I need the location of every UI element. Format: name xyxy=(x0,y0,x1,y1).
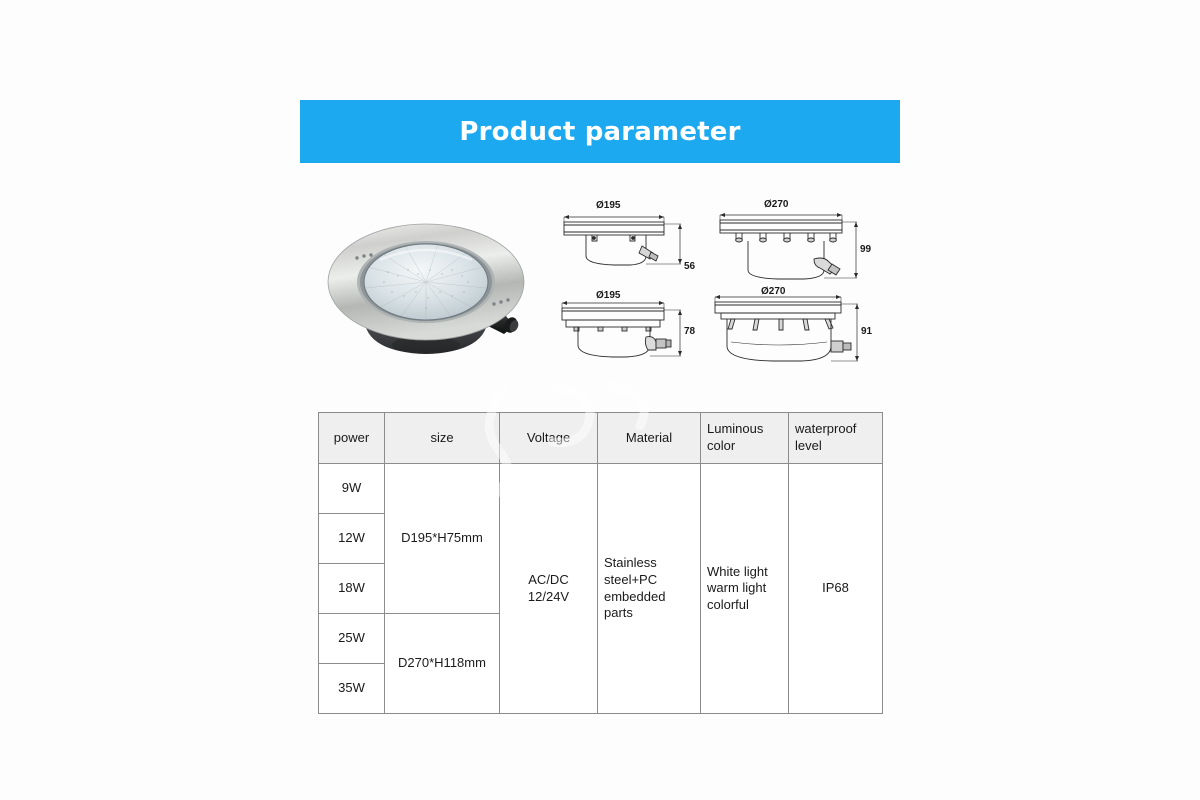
voltage-line2: 12/24V xyxy=(528,589,569,604)
waterproof-header-line1: waterproof xyxy=(795,421,856,436)
material-line1: Stainless xyxy=(604,555,657,570)
page-title: Product parameter xyxy=(459,117,740,147)
dimension-drawings: Ø195 56 xyxy=(550,198,895,378)
voltage-line1: AC/DC xyxy=(528,572,568,587)
dimension-diameter-label: Ø195 xyxy=(596,290,620,301)
cell-power: 18W xyxy=(319,564,385,614)
dimension-height-label: 99 xyxy=(860,244,871,255)
cell-luminous-color: White light warm light colorful xyxy=(701,464,789,714)
dimension-diameter-label: Ø195 xyxy=(596,200,620,211)
product-photo xyxy=(318,212,548,380)
column-header-material: Material xyxy=(598,413,701,464)
cell-voltage: AC/DC 12/24V xyxy=(500,464,598,714)
dimension-diameter-label: Ø270 xyxy=(764,199,788,210)
material-line4: parts xyxy=(604,605,633,620)
dimension-height-label: 91 xyxy=(861,326,872,337)
column-header-size: size xyxy=(385,413,500,464)
column-header-voltage: Voltage xyxy=(500,413,598,464)
cell-power: 25W xyxy=(319,614,385,664)
cell-power: 12W xyxy=(319,514,385,564)
cell-size-small: D195*H75mm xyxy=(385,464,500,614)
drawing-d270-h99: Ø270 99 xyxy=(708,198,888,293)
luminous-header-line1: Luminous xyxy=(707,421,763,436)
cell-power: 9W xyxy=(319,464,385,514)
dimension-height-label: 78 xyxy=(684,326,695,337)
dimension-height-label: 56 xyxy=(684,261,695,272)
product-parameter-table: power size Voltage Material Luminous col… xyxy=(318,412,883,714)
drawing-d195-h56: Ø195 56 xyxy=(550,198,700,286)
luminous-line1: White light xyxy=(707,564,768,579)
drawing-d270-h91: Ø270 91 xyxy=(705,286,890,374)
material-line2: steel+PC xyxy=(604,572,657,587)
column-header-luminous-color: Luminous color xyxy=(701,413,789,464)
table-row: 9W D195*H75mm AC/DC 12/24V Stainless ste… xyxy=(319,464,883,514)
luminous-line3: colorful xyxy=(707,597,749,612)
cell-size-large: D270*H118mm xyxy=(385,614,500,714)
pool-light-illustration xyxy=(318,212,548,380)
column-header-power: power xyxy=(319,413,385,464)
cell-power: 35W xyxy=(319,664,385,714)
luminous-line2: warm light xyxy=(707,580,766,595)
column-header-waterproof-level: waterproof level xyxy=(789,413,883,464)
table-header-row: power size Voltage Material Luminous col… xyxy=(319,413,883,464)
drawing-d195-h78: Ø195 78 xyxy=(550,290,700,370)
product-parameter-banner: Product parameter xyxy=(300,100,900,163)
luminous-header-line2: color xyxy=(707,438,735,453)
material-line3: embedded xyxy=(604,589,665,604)
cell-waterproof-level: IP68 xyxy=(789,464,883,714)
waterproof-header-line2: level xyxy=(795,438,822,453)
dimension-diameter-label: Ø270 xyxy=(761,286,785,297)
cell-material: Stainless steel+PC embedded parts xyxy=(598,464,701,714)
